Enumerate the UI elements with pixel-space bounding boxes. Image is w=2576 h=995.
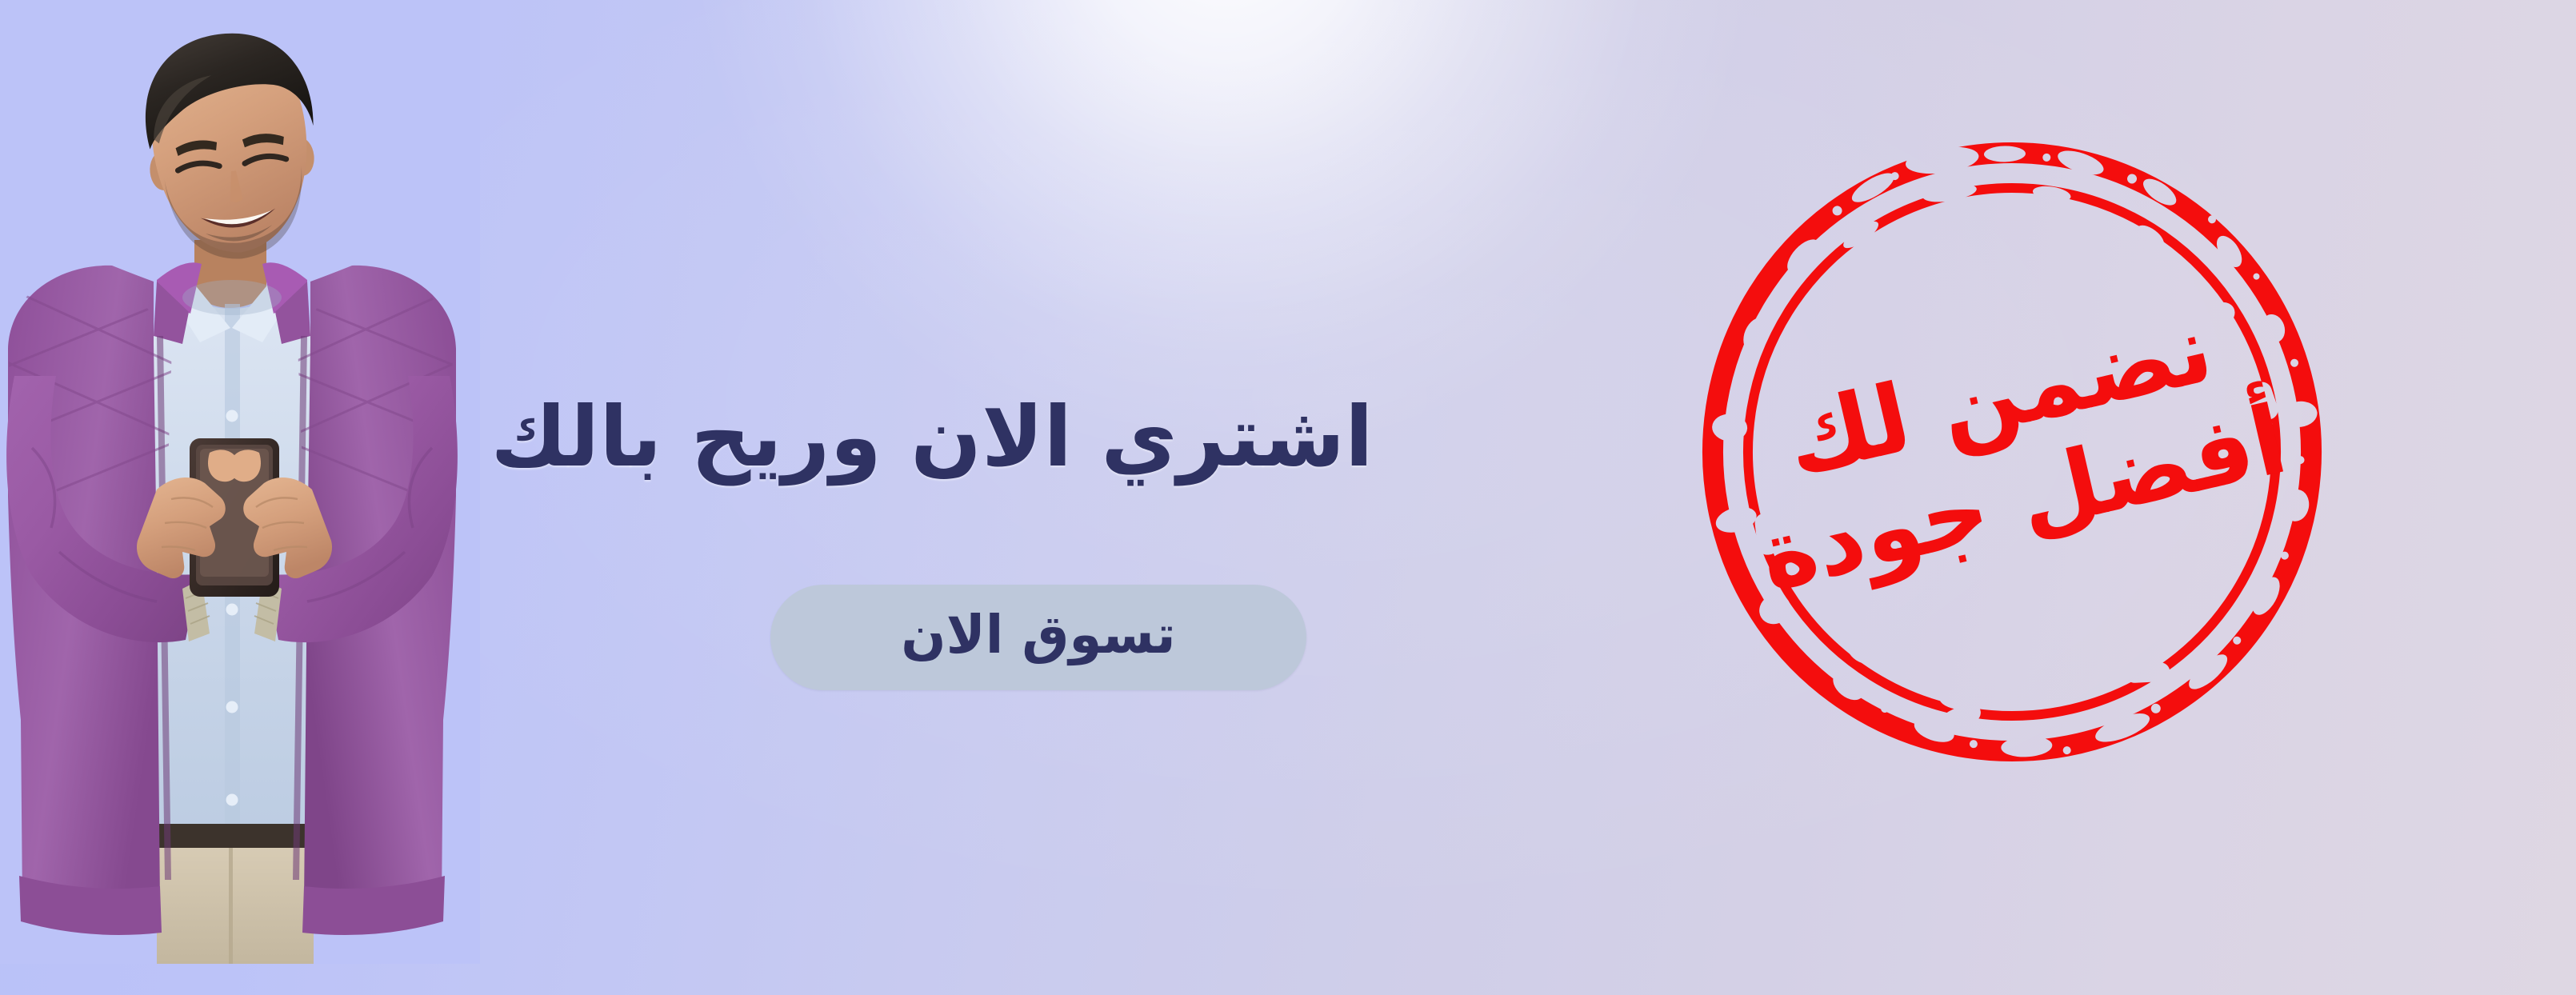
hero-photo [0,0,480,964]
stamp-rings [1653,93,2370,810]
headline: اشتري الان وريح بالك [460,388,1404,486]
quality-guarantee-stamp: نضمن لك أفضل جودة [1633,73,2390,830]
promo-banner: اشتري الان وريح بالك تسوق الان [0,0,2576,995]
shop-now-button[interactable]: تسوق الان [770,585,1306,690]
